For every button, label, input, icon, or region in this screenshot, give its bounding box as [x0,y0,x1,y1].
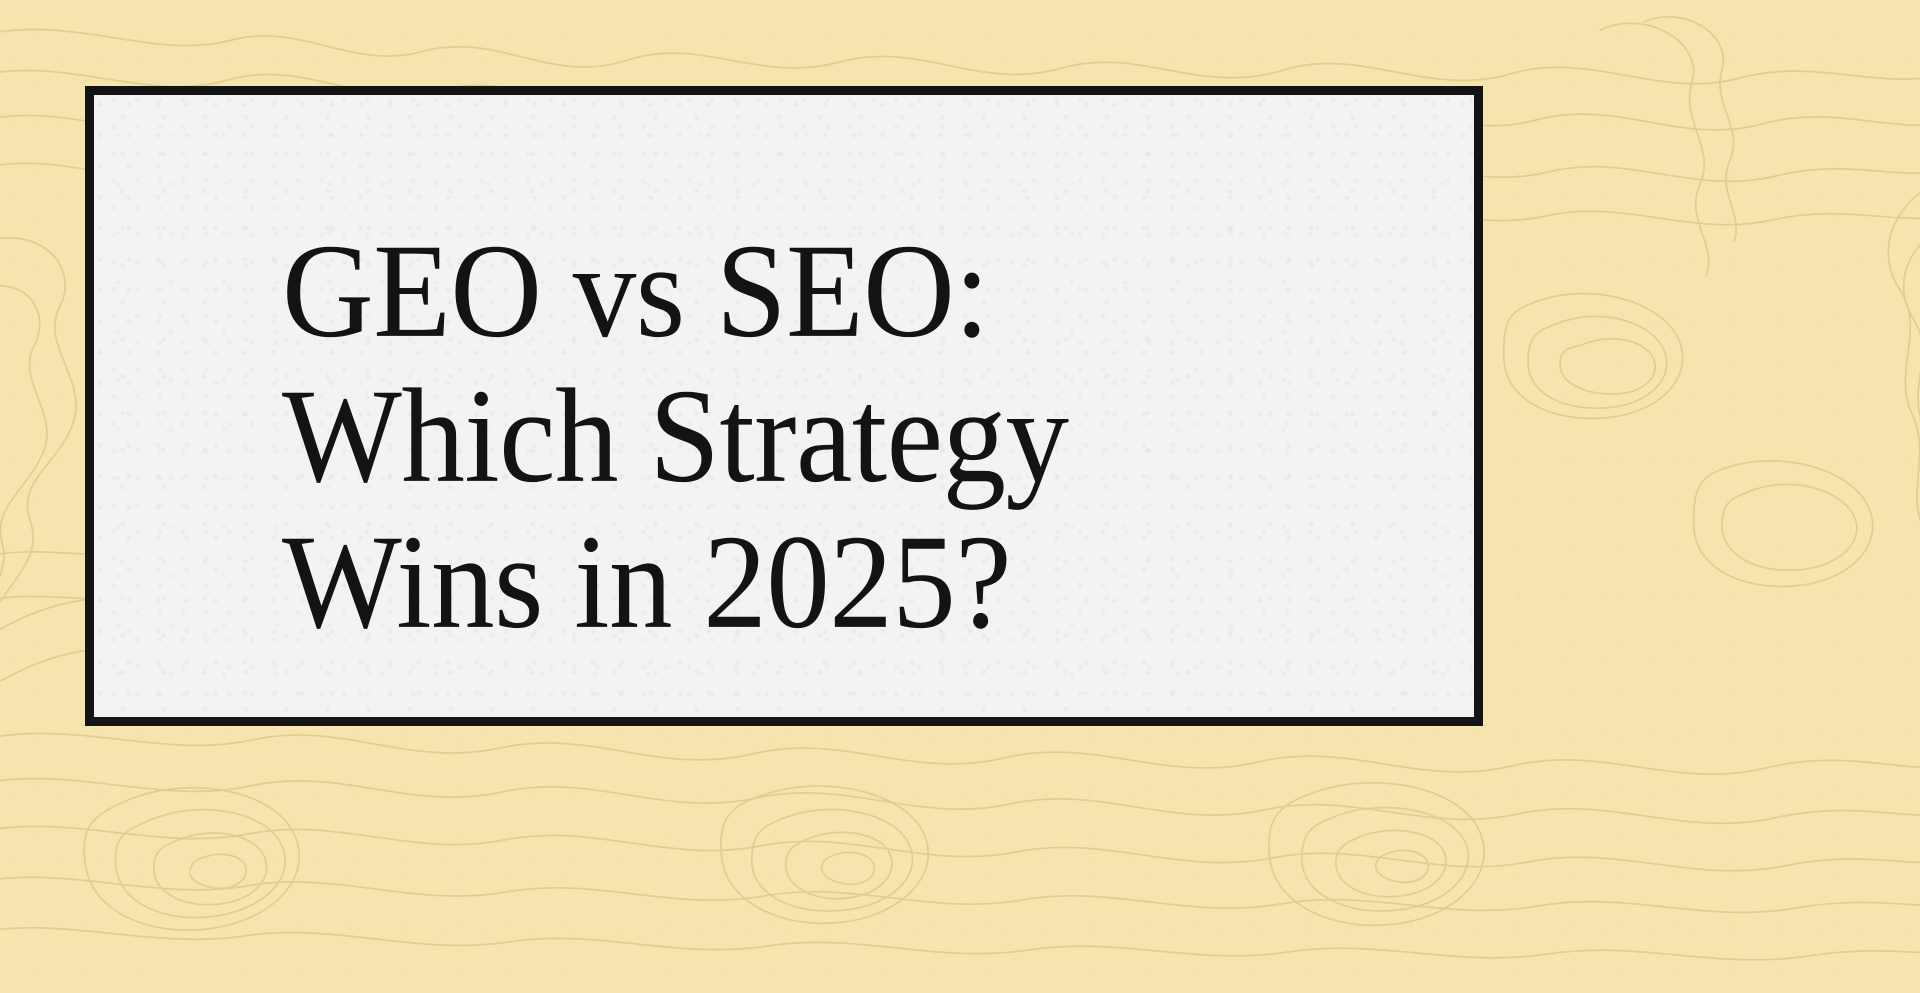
page-title: GEO vs SEO: Which Strategy Wins in 2025? [282,215,1382,651]
slide-canvas: GEO vs SEO: Which Strategy Wins in 2025? [0,0,1920,993]
title-line-3: Wins in 2025? [282,506,1382,660]
title-card-frame: GEO vs SEO: Which Strategy Wins in 2025? [85,86,1483,726]
title-line-2: Which Strategy [282,360,1382,514]
title-card-inner: GEO vs SEO: Which Strategy Wins in 2025? [94,95,1474,717]
title-line-1: GEO vs SEO: [282,215,1382,369]
